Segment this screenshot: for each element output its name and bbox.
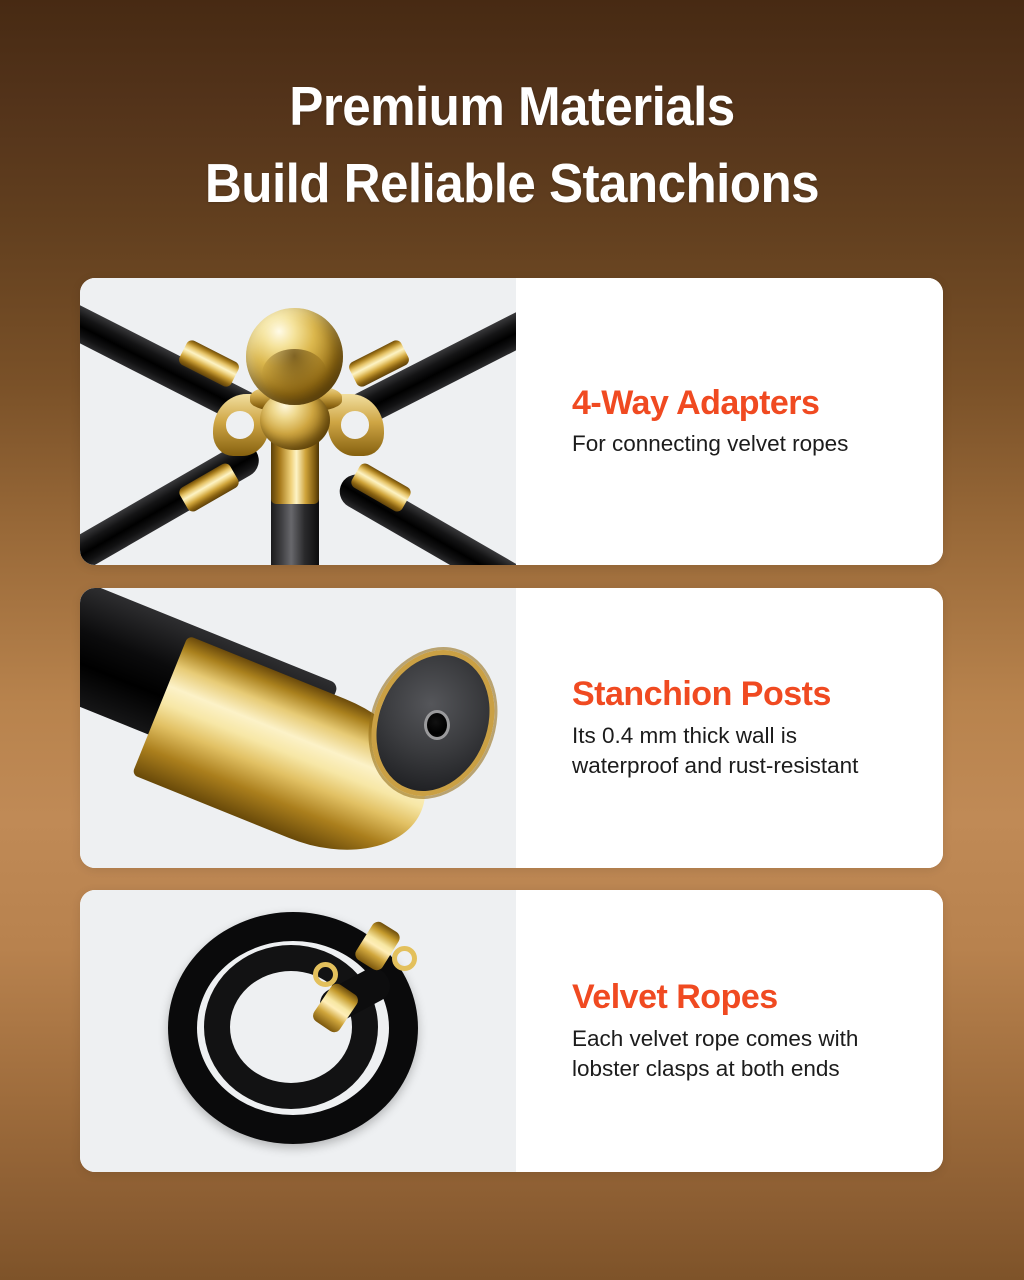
lobster-clasp-first-hook [392, 946, 417, 971]
infographic-page: Premium Materials Build Reliable Stanchi… [0, 0, 1024, 1280]
card-text-panel: Velvet Ropes Each velvet rope comes with… [516, 890, 943, 1172]
card-description: Its 0.4 mm thick wall is waterproof and … [572, 721, 902, 781]
feature-card: Stanchion Posts Its 0.4 mm thick wall is… [80, 588, 943, 868]
headline-line-1: Premium Materials [36, 68, 988, 145]
card-description: Each velvet rope comes with lobster clas… [572, 1024, 902, 1084]
lobster-clasp-second-hook [313, 962, 338, 987]
headline-line-2: Build Reliable Stanchions [36, 145, 988, 222]
feature-card: 4-Way Adapters For connecting velvet rop… [80, 278, 943, 565]
post-cap-center-hole [424, 710, 450, 740]
card-text-panel: Stanchion Posts Its 0.4 mm thick wall is… [516, 588, 943, 868]
card-title: Velvet Ropes [572, 978, 919, 1017]
card-description: For connecting velvet ropes [572, 429, 902, 459]
velvet-rope-lower-left [80, 437, 265, 565]
rope-coil-inner-loop [204, 945, 378, 1109]
card-title: Stanchion Posts [572, 675, 919, 714]
page-headline: Premium Materials Build Reliable Stanchi… [36, 68, 988, 222]
stanchion-post-photo [80, 588, 516, 868]
gold-ball-finial [246, 308, 343, 405]
card-title: 4-Way Adapters [572, 384, 919, 423]
card-text-panel: 4-Way Adapters For connecting velvet rop… [516, 278, 943, 565]
velvet-rope-photo [80, 890, 516, 1172]
feature-card: Velvet Ropes Each velvet rope comes with… [80, 890, 943, 1172]
four-way-adapter-photo [80, 278, 516, 565]
